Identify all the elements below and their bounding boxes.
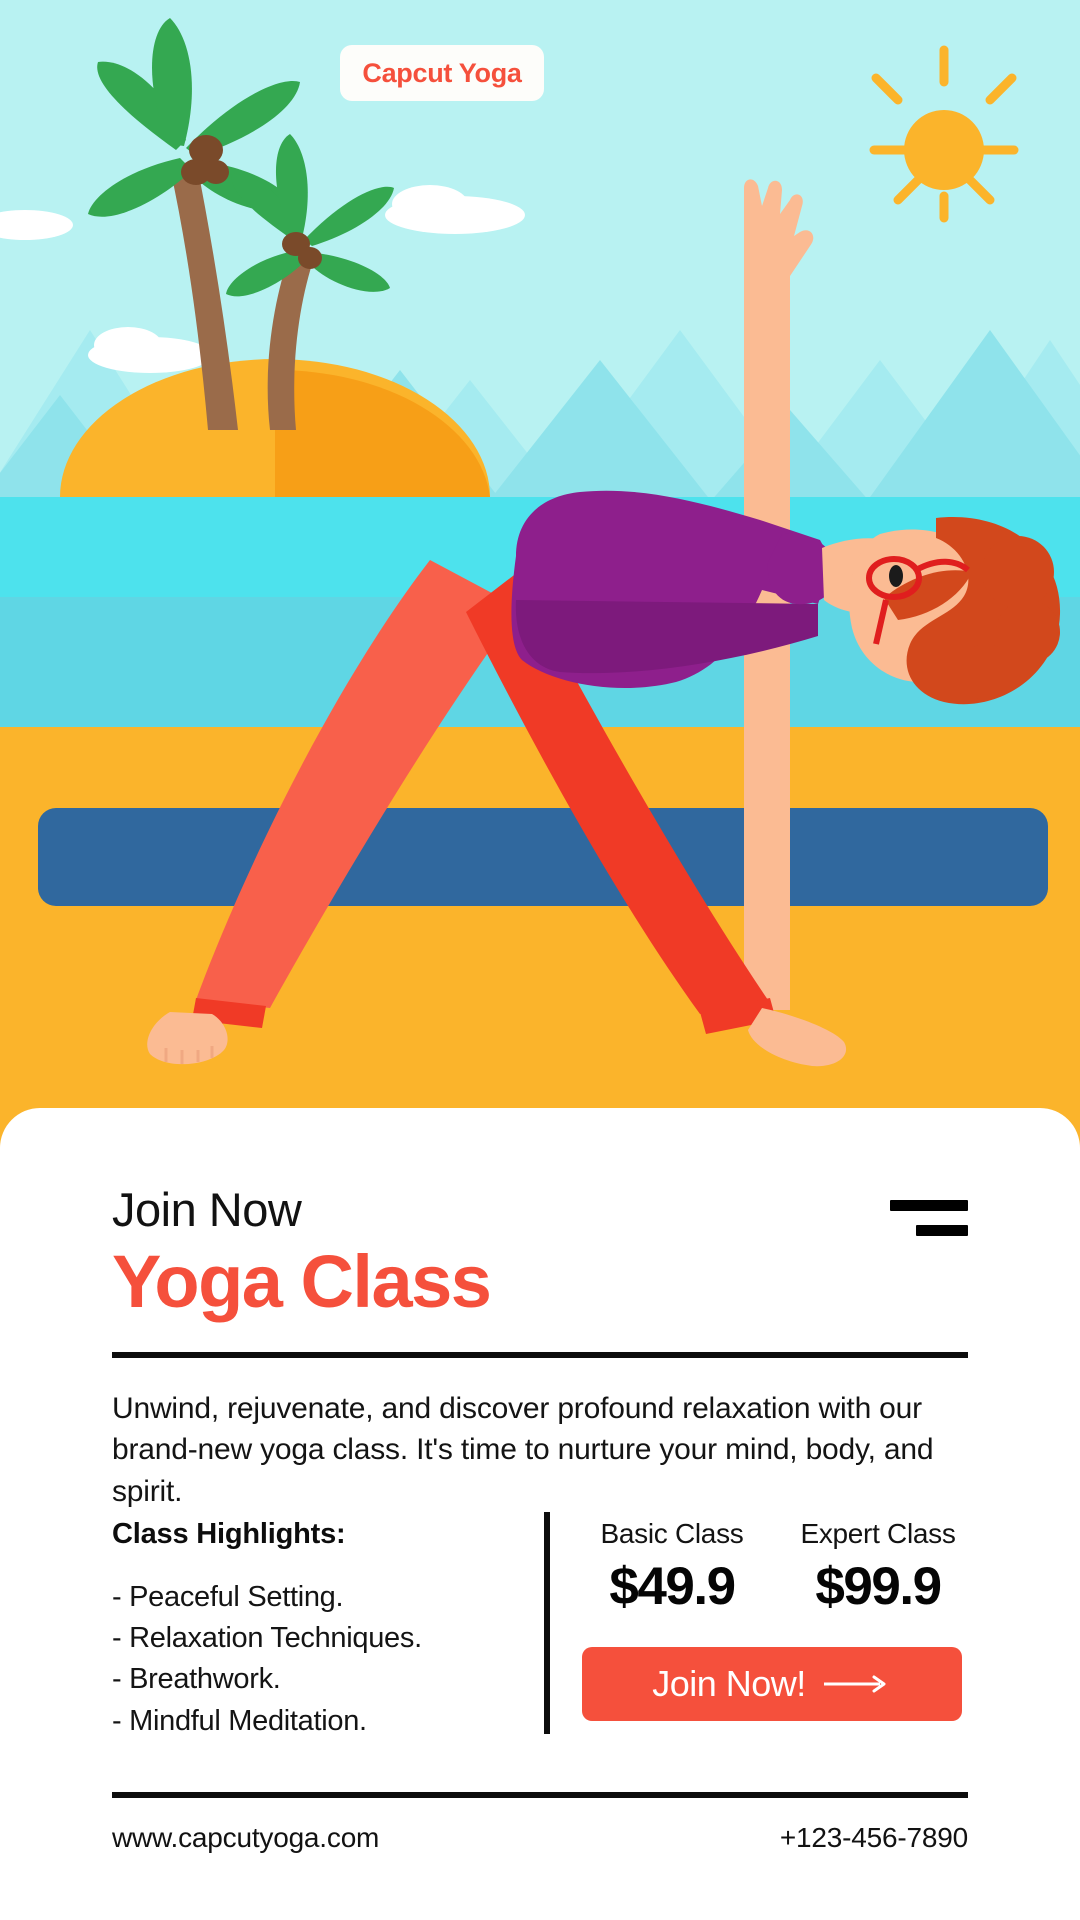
brand-badge-label: Capcut Yoga (362, 58, 521, 89)
list-item: - Peaceful Setting. (112, 1577, 532, 1618)
pricing-row: Basic Class $49.9 Expert Class $99.9 (582, 1518, 968, 1617)
arrow-right-icon (824, 1675, 892, 1693)
list-item: - Breathwork. (112, 1659, 532, 1700)
plan-label: Basic Class (582, 1518, 762, 1550)
list-item: - Relaxation Techniques. (112, 1618, 532, 1659)
pricing-column: Basic Class $49.9 Expert Class $99.9 Joi… (582, 1518, 968, 1721)
poster-root: Capcut Yoga Join Now Yoga Class Unwind, … (0, 0, 1080, 1920)
plan-label: Expert Class (788, 1518, 968, 1550)
website-link[interactable]: www.capcutyoga.com (112, 1822, 379, 1854)
divider-top (112, 1352, 968, 1358)
list-item: - Mindful Meditation. (112, 1701, 532, 1742)
plan-price: $99.9 (788, 1556, 968, 1617)
hamburger-icon[interactable] (890, 1200, 968, 1244)
hamburger-bar-top (890, 1200, 968, 1211)
highlights-column: Class Highlights: - Peaceful Setting. - … (112, 1518, 532, 1742)
vertical-divider (544, 1512, 550, 1734)
plan-price: $49.9 (582, 1556, 762, 1617)
highlights-title: Class Highlights: (112, 1518, 532, 1551)
heading-eyebrow: Join Now (112, 1186, 968, 1233)
footer: www.capcutyoga.com +123-456-7890 (112, 1822, 968, 1854)
details-section: Class Highlights: - Peaceful Setting. - … (112, 1518, 968, 1758)
hero-illustration (0, 0, 1080, 1180)
plan-basic[interactable]: Basic Class $49.9 (582, 1518, 762, 1617)
heading-block: Join Now Yoga Class (112, 1186, 968, 1316)
divider-bottom (112, 1792, 968, 1798)
phone-number[interactable]: +123-456-7890 (780, 1822, 968, 1854)
join-now-button[interactable]: Join Now! (582, 1647, 962, 1721)
brand-badge[interactable]: Capcut Yoga (340, 45, 544, 101)
hamburger-bar-bottom (916, 1225, 968, 1236)
intro-paragraph: Unwind, rejuvenate, and discover profoun… (112, 1388, 942, 1512)
page-title: Yoga Class (112, 1245, 968, 1319)
highlights-list: - Peaceful Setting. - Relaxation Techniq… (112, 1577, 532, 1742)
join-now-button-label: Join Now! (652, 1663, 806, 1705)
plan-expert[interactable]: Expert Class $99.9 (788, 1518, 968, 1617)
